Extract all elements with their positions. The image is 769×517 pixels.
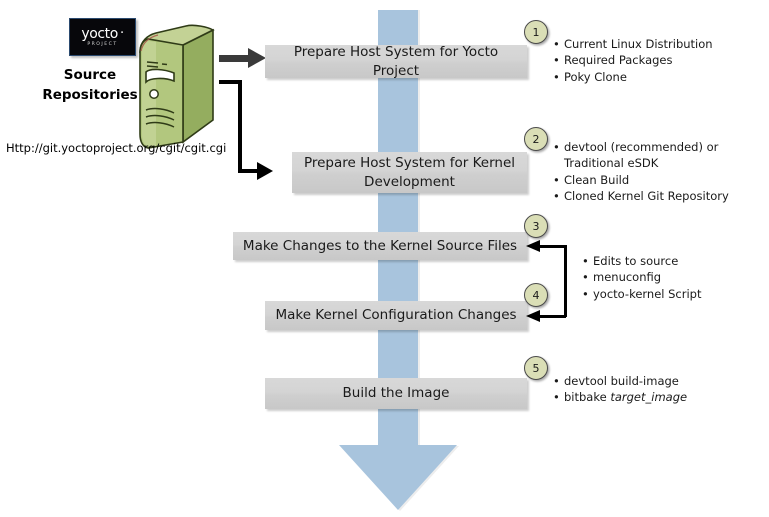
connector-server-to-step2-arrowhead (257, 162, 273, 180)
step-number-5: 5 (524, 356, 548, 380)
source-repositories-label: Source Repositories (34, 66, 146, 105)
bracket-connector-top-segment (538, 245, 566, 248)
list-item: bitbake target_image (564, 389, 763, 405)
bracket-connector-bottom-segment (538, 315, 566, 318)
step-number-3: 3 (524, 214, 548, 238)
bullet-list-step2: devtool (recommended) or Traditional eSD… (551, 139, 763, 204)
source-repository-url: Http://git.yoctoproject.org/cgit/cgit.cg… (6, 141, 226, 155)
bitbake-target-variable: target_image (610, 390, 687, 404)
source-label-line1: Source (34, 66, 146, 86)
process-box-make-kernel-source-changes[interactable]: Make Changes to the Kernel Source Files (233, 232, 527, 260)
server-icon (134, 24, 218, 152)
connector-server-to-step2-segment2 (238, 80, 242, 172)
logo-dot: · (120, 26, 124, 41)
step-number-1: 1 (524, 20, 548, 44)
logo-wordmark: yocto· (81, 27, 123, 41)
process-box-build-the-image[interactable]: Build the Image (265, 378, 527, 409)
bitbake-command-prefix: bitbake (564, 390, 610, 404)
connector-server-to-step1-shaft (219, 55, 251, 62)
process-box-make-kernel-config-changes[interactable]: Make Kernel Configuration Changes (265, 301, 527, 330)
diagram-canvas: yocto· PROJECT Source Repositories (0, 0, 769, 517)
bracket-connector-arrowhead-step3 (526, 240, 540, 252)
process-box-prepare-host-kernel[interactable]: Prepare Host System for Kernel Developme… (292, 152, 527, 193)
list-item: Cloned Kernel Git Repository (564, 188, 763, 204)
bracket-connector-vertical (564, 245, 567, 317)
bullet-list-step5: devtool build-image bitbake target_image (551, 373, 763, 406)
yocto-project-logo: yocto· PROJECT (69, 18, 136, 56)
list-item: menuconfig (593, 269, 765, 285)
list-item: Edits to source (593, 253, 765, 269)
bullet-list-steps3-4: Edits to source menuconfig yocto-kernel … (580, 253, 765, 302)
bracket-connector-arrowhead-step4 (526, 310, 540, 322)
flow-arrow-head (339, 445, 457, 510)
list-item: yocto-kernel Script (593, 286, 765, 302)
step-number-2: 2 (524, 127, 548, 151)
list-item: Poky Clone (564, 69, 763, 85)
logo-word-text: yocto (81, 26, 118, 42)
list-item: Clean Build (564, 172, 763, 188)
process-box-prepare-host-yocto[interactable]: Prepare Host System for Yocto Project (265, 45, 527, 78)
logo-subtitle: PROJECT (87, 43, 117, 48)
step-number-4: 4 (524, 283, 548, 307)
bullet-list-step1: Current Linux Distribution Required Pack… (551, 36, 763, 85)
list-item: devtool build-image (564, 373, 763, 389)
list-item: Current Linux Distribution (564, 36, 763, 52)
list-item: devtool (recommended) or Traditional eSD… (564, 139, 763, 172)
connector-server-to-step1-arrowhead (248, 48, 266, 68)
source-label-line2: Repositories (34, 86, 146, 106)
list-item: Required Packages (564, 52, 763, 68)
